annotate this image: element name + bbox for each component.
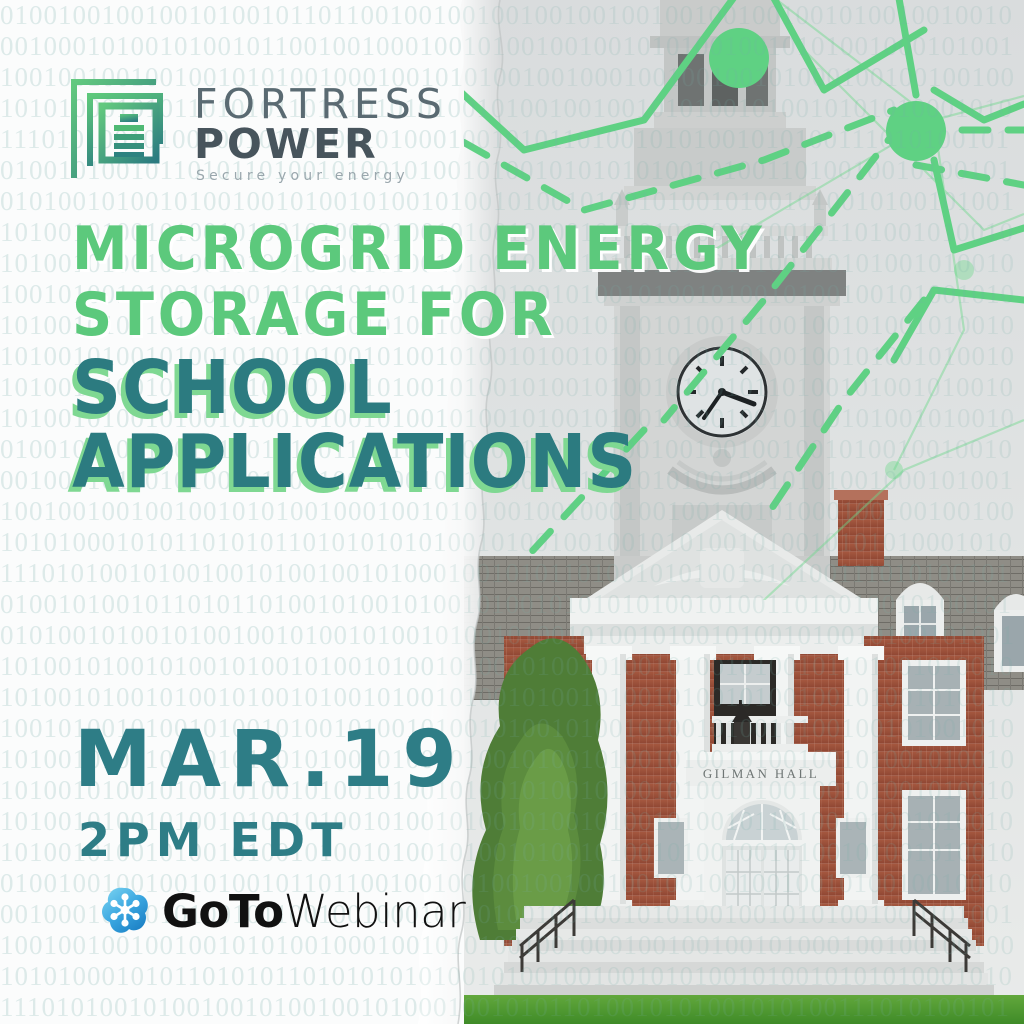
gotowebinar-logo: GoToWebinar	[100, 886, 465, 936]
event-date: MAR.19	[74, 718, 466, 802]
headline-block: MICROGRID ENERGY STORAGE FOR SCHOOL APPL…	[72, 216, 812, 502]
building-sign-text: GILMAN HALL	[703, 766, 819, 781]
fortress-power-bracket-battery-icon	[70, 78, 178, 184]
gotowebinar-flower-icon	[100, 886, 150, 936]
logo-name-fortress: FORTRESS	[194, 84, 447, 124]
fortress-power-logo: FORTRESS POWER Secure your energy	[70, 78, 447, 184]
headline-line-2: STORAGE FOR	[72, 282, 760, 348]
gotowebinar-wordmark: GoToWebinar	[162, 889, 465, 934]
logo-name-power: POWER	[194, 124, 447, 166]
gotowebinar-goto: GoTo	[162, 885, 284, 938]
headline-line-3: SCHOOL	[72, 348, 753, 428]
gotowebinar-webinar: Webinar	[284, 885, 466, 938]
logo-wordmark: FORTRESS POWER Secure your energy	[194, 78, 447, 184]
logo-tagline: Secure your energy	[196, 168, 447, 184]
headline-line-1: MICROGRID ENERGY	[72, 216, 760, 282]
event-date-block: MAR.19 2PM EDT	[74, 718, 466, 866]
headline-line-4: APPLICATIONS	[72, 422, 753, 502]
webinar-promo-poster: 0100100100100101001011011001001001001001…	[0, 0, 1024, 1024]
event-time: 2PM EDT	[78, 814, 466, 866]
campus-building-photo: GILMAN HALL	[464, 0, 1024, 1024]
photo-illustration: GILMAN HALL	[464, 0, 1024, 1024]
